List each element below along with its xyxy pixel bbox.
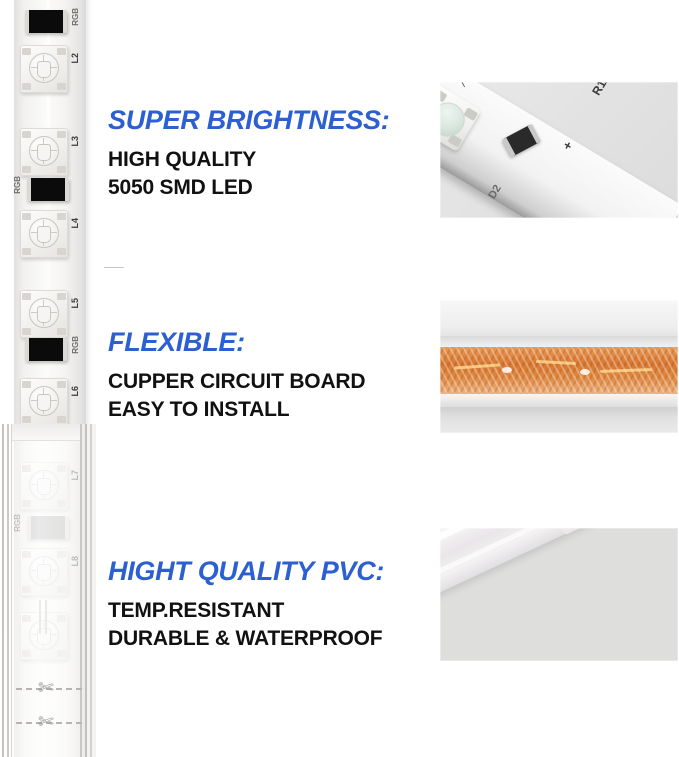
feature-line: HIGH QUALITY — [108, 146, 389, 173]
feature-line: EASY TO INSTALL — [108, 396, 365, 423]
feature-block-pvc: HIGHT QUALITY PVC: TEMP.RESISTANT DURABL… — [108, 556, 384, 652]
led-chip-body — [20, 210, 68, 258]
led-pad — [22, 166, 31, 173]
led-pad — [57, 48, 66, 55]
sleeve-ridge — [7, 424, 9, 757]
copper-highlight — [454, 363, 500, 369]
cut-mark-upper: ✄ — [16, 678, 82, 700]
led-die — [37, 144, 51, 161]
led-label: L6 — [70, 386, 80, 397]
photo-pvc-tube — [440, 528, 678, 661]
led-pad — [22, 416, 31, 423]
led-label: L2 — [70, 53, 80, 64]
resistor-body — [25, 338, 67, 361]
copper-braid — [440, 347, 678, 395]
product-infographic: RGB L2 L3 — [0, 0, 679, 757]
feature-line: CUPPER CIRCUIT BOARD — [108, 368, 365, 395]
scissors-icon: ✄ — [38, 678, 54, 700]
feature-body: HIGH QUALITY 5050 SMD LED — [108, 146, 389, 201]
feature-block-brightness: SUPER BRIGHTNESS: HIGH QUALITY 5050 SMD … — [108, 105, 389, 201]
led-chip-body — [20, 128, 68, 176]
strip-resistor: RGB — [25, 10, 67, 33]
feature-block-flexible: FLEXIBLE: CUPPER CIRCUIT BOARD EASY TO I… — [108, 327, 365, 423]
pvc-sleeve-overlay — [0, 424, 96, 757]
led-chip-l5: L5 — [20, 290, 68, 338]
sleeve-cap — [12, 424, 80, 441]
led-chip-l4: L4 — [20, 210, 68, 258]
cut-mark-lower: ✄ — [16, 712, 82, 734]
led-pad — [22, 131, 31, 138]
led-pad — [57, 416, 66, 423]
led-chip-l6: L6 — [20, 378, 68, 426]
led-pad — [57, 213, 66, 220]
photo-copper-board — [440, 300, 678, 433]
led-pad — [57, 328, 66, 335]
copper-specular — [580, 369, 590, 375]
feature-body: TEMP.RESISTANT DURABLE & WATERPROOF — [108, 597, 384, 652]
scissors-icon: ✄ — [38, 712, 54, 734]
led-pad — [57, 248, 66, 255]
resistor-label: RGB — [71, 336, 80, 354]
led-die — [37, 226, 51, 243]
strip-lower-casing — [440, 407, 678, 433]
led-pad — [57, 381, 66, 388]
led-chip-body — [20, 45, 68, 93]
led-chip-l3: L3 — [20, 128, 68, 176]
feature-line: TEMP.RESISTANT — [108, 597, 384, 624]
led-pad — [22, 83, 31, 90]
led-pad — [22, 381, 31, 388]
led-die — [37, 394, 51, 411]
resistor-body — [25, 10, 67, 33]
led-label: L4 — [70, 218, 80, 229]
feature-line: 5050 SMD LED — [108, 174, 389, 201]
led-pad — [22, 293, 31, 300]
copper-highlight — [600, 368, 652, 373]
led-die — [37, 306, 51, 323]
sleeve-ridge — [2, 424, 4, 757]
feature-line: DURABLE & WATERPROOF — [108, 625, 384, 652]
led-die — [37, 61, 51, 78]
sleeve-ridge — [11, 424, 12, 757]
led-pad — [22, 248, 31, 255]
led-label: L5 — [70, 298, 80, 309]
led-pad — [22, 328, 31, 335]
led-pad — [22, 213, 31, 220]
resistor-body — [27, 178, 69, 201]
resistor-label: RGB — [71, 8, 80, 26]
led-chip-l2: L2 — [20, 45, 68, 93]
led-pad — [57, 131, 66, 138]
smd-resistor — [502, 124, 541, 158]
casing-edge-bottom — [440, 394, 678, 408]
feature-body: CUPPER CIRCUIT BOARD EASY TO INSTALL — [108, 368, 365, 423]
copper-highlight — [536, 360, 576, 365]
led-strip-illustration: RGB L2 L3 — [0, 0, 100, 757]
led-pad — [57, 83, 66, 90]
sleeve-ridge — [85, 424, 87, 757]
smd-pad — [463, 107, 478, 121]
strip-upper-casing — [440, 300, 678, 338]
photo-smd-led: R11 D2 + — [440, 82, 678, 218]
strip-resistor: RGB — [27, 178, 69, 201]
led-chip-body — [20, 378, 68, 426]
led-pad — [22, 48, 31, 55]
strip-resistor: RGB — [25, 338, 67, 361]
feature-heading: SUPER BRIGHTNESS: — [108, 105, 389, 135]
led-pad — [57, 166, 66, 173]
section-divider — [104, 267, 124, 268]
led-chip-body — [20, 290, 68, 338]
smd-pad — [440, 89, 447, 103]
resistor-label: RGB — [13, 176, 22, 194]
copper-specular — [502, 367, 512, 373]
led-label: L3 — [70, 136, 80, 147]
smd-led-package — [440, 85, 481, 152]
sleeve-ridge — [90, 424, 92, 757]
sleeve-ridge — [80, 424, 82, 757]
feature-heading: HIGHT QUALITY PVC: — [108, 556, 384, 586]
feature-heading: FLEXIBLE: — [108, 327, 365, 357]
led-pad — [57, 293, 66, 300]
